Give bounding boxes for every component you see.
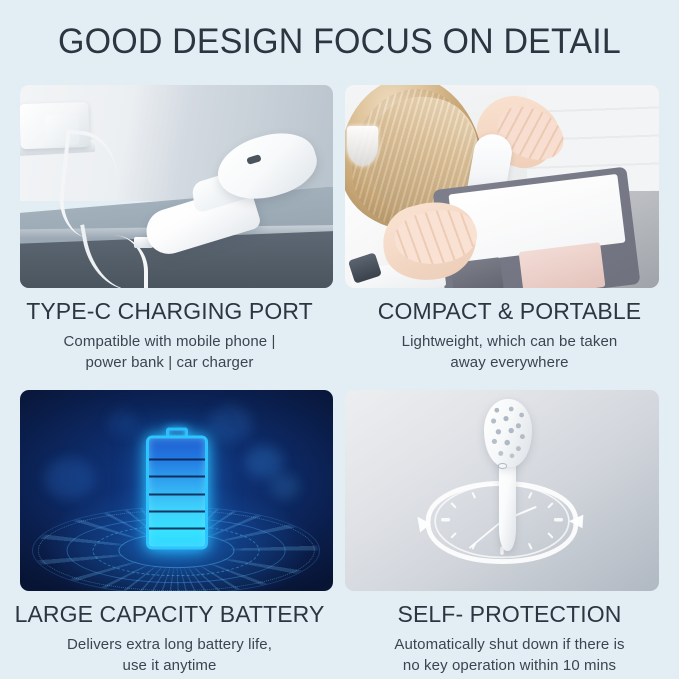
photo-glowing-battery: [20, 390, 333, 591]
bokeh-light: [108, 410, 139, 436]
caption-description-line-2: away everywhere: [450, 354, 568, 371]
battery-body: [146, 435, 208, 549]
battery-icon: [146, 427, 208, 549]
comb-power-button: [498, 463, 507, 468]
feature-image-self-protection: [345, 390, 659, 591]
bokeh-light: [270, 474, 298, 498]
page-title: GOOD DESIGN FOCUS ON DETAIL: [10, 22, 669, 62]
battery-segment-divider: [149, 459, 205, 461]
bokeh-light: [208, 406, 252, 442]
battery-segment-divider: [149, 493, 205, 495]
caption-description-line-1: Delivers extra long battery life,: [67, 636, 272, 653]
caption-description-line-2: use it anytime: [123, 657, 217, 674]
battery-segment-divider: [149, 528, 205, 530]
caption-large-capacity-battery: LARGE CAPACITY BATTERY Delivers extra lo…: [0, 600, 339, 676]
caption-type-c-charging-port: TYPE-C CHARGING PORT Compatible with mob…: [0, 297, 339, 373]
battery-segment-divider: [149, 510, 205, 512]
feature-image-compact-and-portable: [345, 85, 659, 288]
caption-description-line-2: no key operation within 10 mins: [403, 657, 616, 674]
comb-massage-pins: [488, 403, 528, 463]
caption-title: LARGE CAPACITY BATTERY: [0, 600, 339, 628]
feature-image-large-capacity-battery: [20, 390, 333, 591]
photo-clock-auto-shutoff: [345, 390, 659, 591]
bokeh-light: [45, 458, 95, 498]
caption-description: Delivers extra long battery life, use it…: [0, 634, 339, 676]
caption-description: Lightweight, which can be taken away eve…: [340, 331, 679, 373]
caption-title: TYPE-C CHARGING PORT: [0, 297, 339, 325]
infographic-page: GOOD DESIGN FOCUS ON DETAIL TYPE-C CHARG…: [0, 0, 679, 679]
caption-description-line-1: Lightweight, which can be taken: [402, 333, 618, 350]
feature-image-type-c-charging-port: [20, 85, 333, 288]
battery-segment-divider: [149, 476, 205, 478]
photo-woman-packing-bag: [345, 85, 659, 288]
caption-title: SELF- PROTECTION: [340, 600, 679, 628]
caption-description-line-1: Automatically shut down if there is: [394, 636, 624, 653]
caption-title: COMPACT & PORTABLE: [340, 297, 679, 325]
photo-charging-on-counter: [20, 85, 333, 288]
comb-head: [484, 399, 531, 467]
caption-description: Compatible with mobile phone | power ban…: [0, 331, 339, 373]
caption-description-line-1: Compatible with mobile phone |: [63, 333, 275, 350]
earring: [347, 126, 378, 167]
caption-compact-and-portable: COMPACT & PORTABLE Lightweight, which ca…: [340, 297, 679, 373]
caption-description: Automatically shut down if there is no k…: [340, 634, 679, 676]
caption-self-protection: SELF- PROTECTION Automatically shut down…: [340, 600, 679, 676]
caption-description-line-2: power bank | car charger: [85, 354, 253, 371]
